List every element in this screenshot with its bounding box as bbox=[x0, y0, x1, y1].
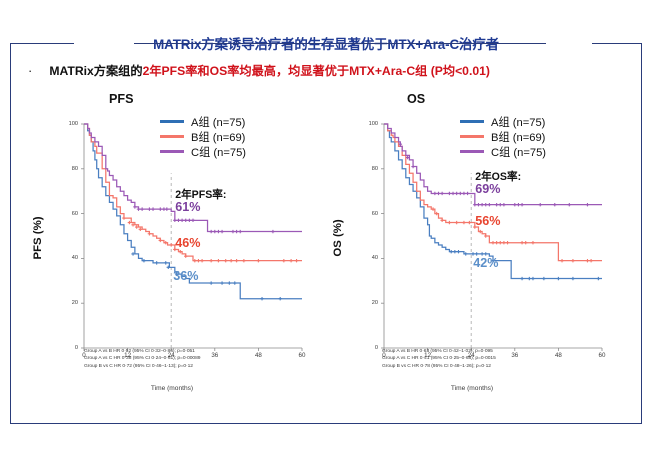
y-tick-label: 20 bbox=[62, 300, 78, 306]
legend-swatch-group-c bbox=[160, 150, 184, 152]
censor-mark bbox=[466, 192, 469, 195]
stats-line: Group A vs C HR 0·38 (95% CI 0·24–0·61);… bbox=[84, 355, 200, 362]
y-tick-label: 60 bbox=[62, 211, 78, 217]
chart-panel-os: OS OS (%) Time (months) 0204060801000122… bbox=[322, 92, 622, 410]
legend-item-group-b[interactable]: B组 (n=69) bbox=[160, 129, 246, 144]
censor-mark bbox=[524, 241, 527, 244]
censor-mark bbox=[435, 212, 438, 215]
y-tick-label: 0 bbox=[362, 345, 378, 351]
x-tick-label: 36 bbox=[206, 352, 224, 359]
legend-swatch-group-b bbox=[160, 135, 184, 137]
x-tick-label: 60 bbox=[593, 352, 611, 359]
censor-mark bbox=[271, 230, 274, 233]
censor-mark bbox=[193, 259, 196, 262]
chart-title-os: OS bbox=[407, 92, 652, 106]
stats-line: Group A vs B HR 0·63 (95% CI 0·42–1·02);… bbox=[382, 348, 496, 355]
censor-mark bbox=[433, 192, 436, 195]
legend-swatch-group-c bbox=[460, 150, 484, 152]
legend-label-group-b: B组 (n=69) bbox=[491, 129, 545, 145]
censor-mark bbox=[586, 259, 589, 262]
censor-mark bbox=[437, 192, 440, 195]
censor-mark bbox=[224, 259, 227, 262]
censor-mark bbox=[295, 259, 298, 262]
censor-mark bbox=[164, 261, 167, 264]
censor-mark bbox=[233, 281, 236, 284]
censor-mark bbox=[177, 219, 180, 222]
x-tick-label: 36 bbox=[506, 352, 524, 359]
censor-mark bbox=[231, 230, 234, 233]
legend-label-group-a: A组 (n=75) bbox=[491, 114, 545, 130]
bullet-text: MATRix方案组的2年PFS率和OS率均最高，均显著优于MTX+Ara-C组 … bbox=[49, 63, 490, 79]
censor-mark bbox=[170, 243, 173, 246]
chart-panel-pfs: PFS PFS (%) Time (months) 02040608010001… bbox=[22, 92, 322, 410]
x-tick-label: 60 bbox=[293, 352, 311, 359]
y-tick-label: 80 bbox=[362, 166, 378, 172]
censor-mark bbox=[151, 207, 154, 210]
censor-mark bbox=[468, 221, 471, 224]
frame-gap-left bbox=[74, 40, 134, 47]
censor-mark bbox=[209, 259, 212, 262]
legend-os: A组 (n=75)B组 (n=69)C组 (n=75) bbox=[460, 114, 546, 159]
legend-item-group-b[interactable]: B组 (n=69) bbox=[460, 129, 546, 144]
legend-swatch-group-a bbox=[160, 120, 184, 122]
stats-line: Group B vs C HR 0·78 (95% CI 0·48–1·26);… bbox=[382, 363, 496, 370]
censor-mark bbox=[431, 207, 434, 210]
censor-mark bbox=[279, 297, 282, 300]
censor-mark bbox=[571, 277, 574, 280]
censor-mark bbox=[589, 259, 592, 262]
censor-mark bbox=[531, 241, 534, 244]
censor-mark bbox=[289, 259, 292, 262]
censor-mark bbox=[440, 192, 443, 195]
censor-mark bbox=[229, 259, 232, 262]
censor-mark bbox=[179, 250, 182, 253]
censor-mark bbox=[131, 223, 134, 226]
censor-mark bbox=[155, 261, 158, 264]
censor-mark bbox=[459, 192, 462, 195]
censor-mark bbox=[557, 277, 560, 280]
x-tick-label: 48 bbox=[549, 352, 567, 359]
censor-mark bbox=[502, 203, 505, 206]
censor-mark bbox=[235, 230, 238, 233]
legend-pfs: A组 (n=75)B组 (n=69)C组 (n=75) bbox=[160, 114, 246, 159]
censor-mark bbox=[484, 203, 487, 206]
censor-mark bbox=[159, 239, 162, 242]
bullet-marker: · bbox=[28, 63, 32, 79]
censor-mark bbox=[488, 203, 491, 206]
censor-mark bbox=[399, 142, 402, 145]
censor-mark bbox=[406, 156, 409, 159]
censor-mark bbox=[480, 203, 483, 206]
y-tick-label: 100 bbox=[362, 121, 378, 127]
censor-mark bbox=[239, 230, 242, 233]
y-axis-label-os: OS (%) bbox=[332, 198, 344, 278]
censor-mark bbox=[173, 219, 176, 222]
annotation-rate-A组: 42% bbox=[473, 256, 498, 270]
censor-mark bbox=[135, 225, 138, 228]
censor-mark bbox=[451, 192, 454, 195]
censor-mark bbox=[228, 281, 231, 284]
legend-item-group-c[interactable]: C组 (n=75) bbox=[160, 144, 246, 159]
stats-block-pfs: Group A vs B HR 0·52 (95% CI 0·32–0·86);… bbox=[84, 348, 200, 370]
censor-mark bbox=[220, 281, 223, 284]
y-tick-label: 0 bbox=[62, 345, 78, 351]
censor-mark bbox=[462, 221, 465, 224]
censor-mark bbox=[411, 165, 414, 168]
censor-mark bbox=[495, 241, 498, 244]
stats-line: Group B vs C HR 0·72 (95% CI 0·46–1·13);… bbox=[84, 363, 200, 370]
censor-mark bbox=[257, 259, 260, 262]
censor-mark bbox=[139, 228, 142, 231]
censor-mark bbox=[148, 207, 151, 210]
censor-mark bbox=[531, 277, 534, 280]
censor-mark bbox=[597, 277, 600, 280]
censor-mark bbox=[517, 203, 520, 206]
censor-mark bbox=[242, 259, 245, 262]
stats-block-os: Group A vs B HR 0·63 (95% CI 0·42–1·02);… bbox=[382, 348, 496, 370]
censor-mark bbox=[448, 192, 451, 195]
censor-mark bbox=[209, 230, 212, 233]
legend-label-group-c: C组 (n=75) bbox=[491, 144, 546, 160]
annotation-rate-B组: 56% bbox=[475, 214, 500, 228]
censor-mark bbox=[520, 241, 523, 244]
censor-mark bbox=[184, 219, 187, 222]
censor-mark bbox=[477, 203, 480, 206]
legend-item-group-a[interactable]: A组 (n=75) bbox=[160, 114, 246, 129]
y-tick-label: 20 bbox=[362, 300, 378, 306]
censor-mark bbox=[586, 203, 589, 206]
censor-mark bbox=[148, 232, 151, 235]
stats-line: Group A vs C HR 0·41 (95% CI 0·25–0·68);… bbox=[382, 355, 496, 362]
censor-mark bbox=[455, 192, 458, 195]
censor-mark bbox=[131, 252, 134, 255]
annotation-rate-A组: 36% bbox=[173, 269, 198, 283]
censor-mark bbox=[165, 207, 168, 210]
censor-mark bbox=[455, 221, 458, 224]
censor-mark bbox=[479, 230, 482, 233]
y-tick-label: 80 bbox=[62, 166, 78, 172]
censor-mark bbox=[191, 219, 194, 222]
legend-label-group-c: C组 (n=75) bbox=[191, 144, 246, 160]
y-axis-label-pfs: PFS (%) bbox=[32, 198, 44, 278]
censor-mark bbox=[220, 230, 223, 233]
censor-mark bbox=[560, 259, 563, 262]
x-axis-label-os: Time (months) bbox=[362, 385, 582, 392]
censor-mark bbox=[209, 281, 212, 284]
censor-mark bbox=[200, 259, 203, 262]
y-tick-label: 100 bbox=[62, 121, 78, 127]
censor-mark bbox=[440, 219, 443, 222]
censor-mark bbox=[491, 241, 494, 244]
legend-item-group-c[interactable]: C组 (n=75) bbox=[460, 144, 546, 159]
censor-mark bbox=[217, 259, 220, 262]
censor-mark bbox=[453, 250, 456, 253]
censor-mark bbox=[539, 203, 542, 206]
censor-mark bbox=[520, 277, 523, 280]
bullet-row: · MATRix方案组的2年PFS率和OS率均最高，均显著优于MTX+Ara-C… bbox=[28, 63, 628, 79]
censor-mark bbox=[502, 241, 505, 244]
censor-mark bbox=[462, 192, 465, 195]
censor-mark bbox=[568, 203, 571, 206]
censor-mark bbox=[464, 252, 467, 255]
censor-mark bbox=[180, 219, 183, 222]
legend-swatch-group-a bbox=[460, 120, 484, 122]
censor-mark bbox=[473, 203, 476, 206]
censor-mark bbox=[128, 221, 131, 224]
annotation-rate-C组: 69% bbox=[475, 182, 500, 196]
censor-mark bbox=[506, 241, 509, 244]
censor-mark bbox=[499, 241, 502, 244]
censor-mark bbox=[484, 234, 487, 237]
censor-mark bbox=[495, 203, 498, 206]
bullet-prefix: MATRix方案组的 bbox=[49, 64, 142, 78]
legend-swatch-group-b bbox=[460, 135, 484, 137]
frame-gap-right bbox=[546, 40, 592, 47]
censor-mark bbox=[164, 241, 167, 244]
censor-mark bbox=[137, 207, 140, 210]
censor-mark bbox=[448, 221, 451, 224]
censor-mark bbox=[499, 203, 502, 206]
legend-item-group-a[interactable]: A组 (n=75) bbox=[460, 114, 546, 129]
bullet-highlight: 2年PFS率和OS率均最高，均显著优于MTX+Ara-C组 (P均<0.01) bbox=[143, 64, 490, 78]
x-axis-label-pfs: Time (months) bbox=[62, 385, 282, 392]
censor-mark bbox=[213, 230, 216, 233]
y-tick-label: 40 bbox=[62, 255, 78, 261]
censor-mark bbox=[188, 219, 191, 222]
x-tick-label: 48 bbox=[249, 352, 267, 359]
censor-mark bbox=[260, 297, 263, 300]
annotation-rate-C组: 61% bbox=[175, 200, 200, 214]
censor-mark bbox=[282, 259, 285, 262]
censor-mark bbox=[142, 259, 145, 262]
censor-mark bbox=[542, 277, 545, 280]
legend-label-group-a: A组 (n=75) bbox=[191, 114, 245, 130]
y-tick-label: 40 bbox=[362, 255, 378, 261]
censor-mark bbox=[184, 254, 187, 257]
censor-mark bbox=[140, 207, 143, 210]
censor-mark bbox=[133, 205, 136, 208]
censor-mark bbox=[235, 259, 238, 262]
annotation-rate-B组: 46% bbox=[175, 236, 200, 250]
legend-label-group-b: B组 (n=69) bbox=[191, 129, 245, 145]
censor-mark bbox=[520, 203, 523, 206]
censor-mark bbox=[450, 250, 453, 253]
censor-mark bbox=[217, 230, 220, 233]
censor-mark bbox=[197, 259, 200, 262]
censor-mark bbox=[571, 259, 574, 262]
censor-mark bbox=[159, 207, 162, 210]
censor-mark bbox=[513, 203, 516, 206]
censor-mark bbox=[457, 250, 460, 253]
stats-line: Group A vs B HR 0·52 (95% CI 0·32–0·86);… bbox=[84, 348, 200, 355]
censor-mark bbox=[122, 216, 125, 219]
y-tick-label: 60 bbox=[362, 211, 378, 217]
censor-mark bbox=[162, 207, 165, 210]
censor-mark bbox=[553, 203, 556, 206]
censor-mark bbox=[528, 277, 531, 280]
